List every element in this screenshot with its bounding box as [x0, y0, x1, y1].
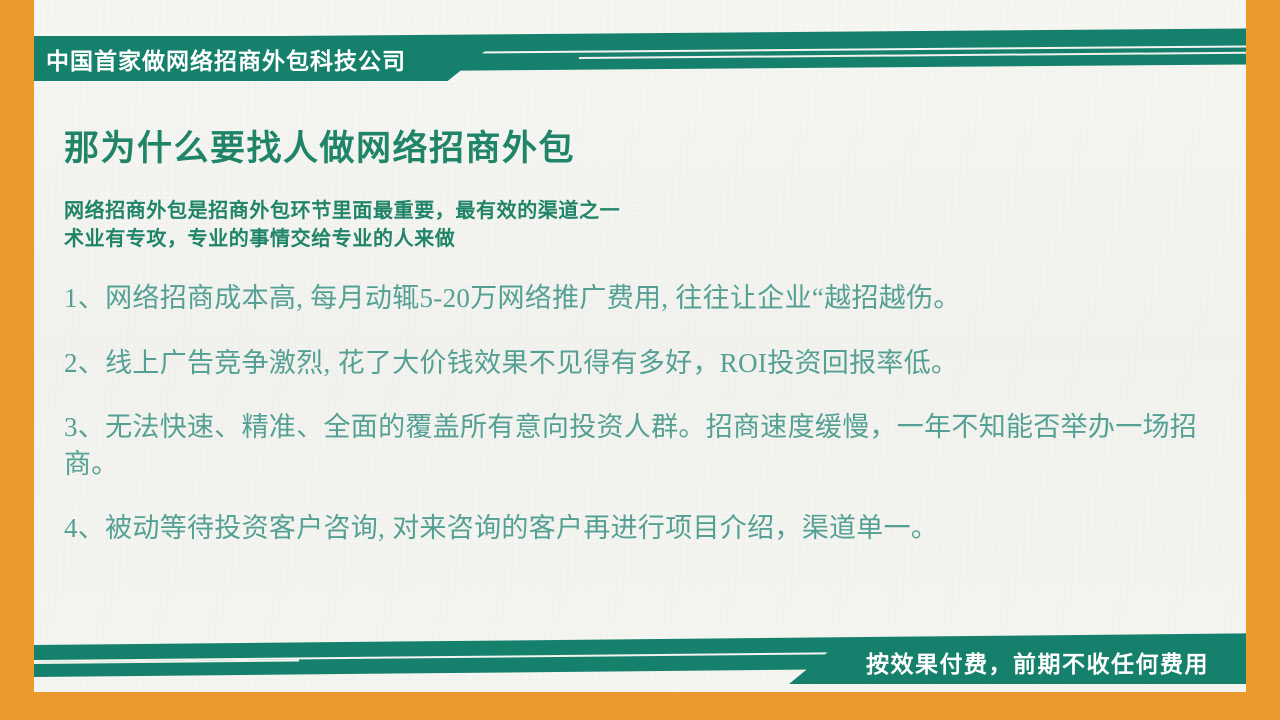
subtitle-line-1: 网络招商外包是招商外包环节里面最重要，最有效的渠道之一: [64, 197, 1199, 225]
content-area: 那为什么要找人做网络招商外包 网络招商外包是招商外包环节里面最重要，最有效的渠道…: [64, 130, 1199, 548]
list-item: 4、被动等待投资客户咨询, 对来咨询的客户再进行项目介绍，渠道单一。: [64, 510, 1199, 547]
footer-band: 按效果付费，前期不收任何费用: [34, 645, 1246, 695]
subtitle-block: 网络招商外包是招商外包环节里面最重要，最有效的渠道之一 术业有专攻，专业的事情交…: [64, 197, 1199, 254]
page-title: 那为什么要找人做网络招商外包: [64, 130, 1199, 169]
footer-tagline-badge: 按效果付费，前期不收任何费用: [789, 639, 1246, 684]
pain-point-list: 1、网络招商成本高, 每月动辄5-20万网络推广费用, 往往让企业“越招越伤。 …: [64, 280, 1199, 547]
header-badge: 中国首家做网络招商外包科技公司: [34, 36, 504, 81]
list-item: 1、网络招商成本高, 每月动辄5-20万网络推广费用, 往往让企业“越招越伤。: [64, 280, 1199, 317]
header-badge-label: 中国首家做网络招商外包科技公司: [34, 42, 406, 76]
footer-tagline-label: 按效果付费，前期不收任何费用: [826, 645, 1209, 679]
list-item: 3、无法快速、精准、全面的覆盖所有意向投资人群。招商速度缓慢，一年不知能否举办一…: [64, 409, 1199, 484]
header-band: 中国首家做网络招商外包科技公司: [34, 36, 1246, 88]
subtitle-line-2: 术业有专攻，专业的事情交给专业的人来做: [64, 225, 1199, 253]
list-item: 2、线上广告竞争激烈, 花了大价钱效果不见得有多好，ROI投资回报率低。: [64, 345, 1199, 382]
slide-root: 中国首家做网络招商外包科技公司 那为什么要找人做网络招商外包 网络招商外包是招商…: [0, 0, 1280, 720]
